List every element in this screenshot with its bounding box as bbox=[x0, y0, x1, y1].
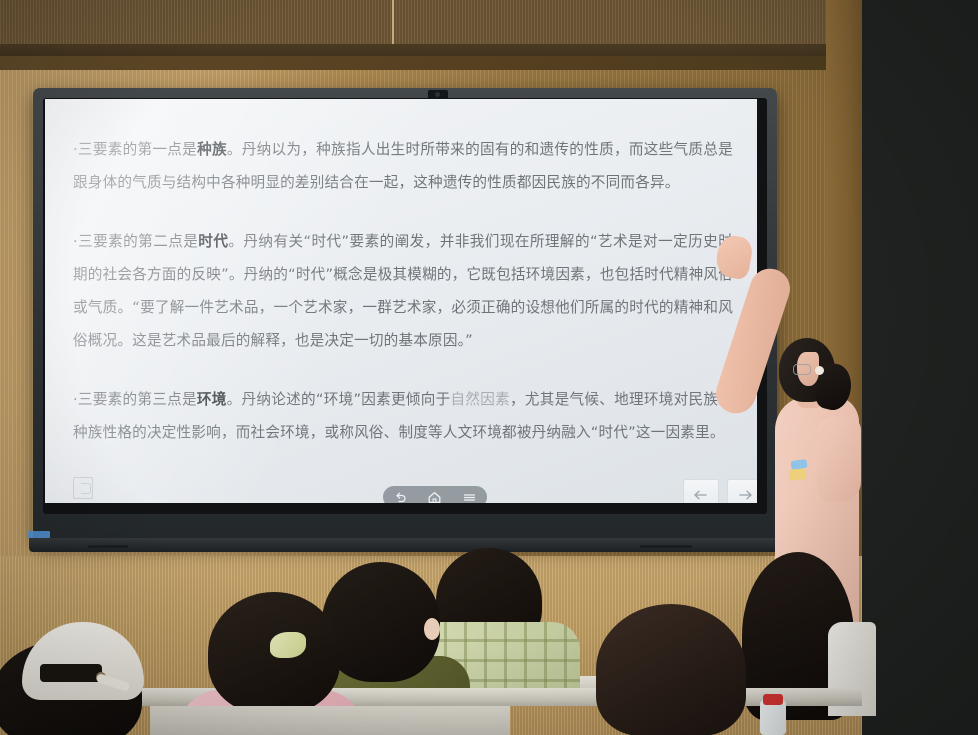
classroom-window bbox=[862, 0, 978, 735]
slide-text-run: ·三要素的第二点是 bbox=[73, 233, 198, 250]
wall-panel-seam bbox=[392, 0, 394, 46]
presenter-sleeve bbox=[817, 416, 861, 502]
smart-board-led-indicator bbox=[28, 531, 50, 538]
hair-clip-icon bbox=[270, 632, 306, 658]
shirt-graphic-yellow bbox=[788, 468, 806, 481]
water-bottle bbox=[760, 700, 786, 735]
slide-text-run: 。丹纳有关“时代”要素的阐发，并非我们现在所理解的“艺术是对一定历史时期的社会各… bbox=[73, 233, 733, 349]
slide-document: ·三要素的第一点是种族。丹纳以为，种族指人出生时所带来的固有的和遗传的性质，而这… bbox=[73, 133, 733, 449]
slide-text-run: ·三要素的第三点是 bbox=[73, 391, 197, 408]
smart-board-screen[interactable]: ·三要素的第一点是种族。丹纳以为，种族指人出生时所带来的固有的和遗传的性质，而这… bbox=[45, 99, 757, 503]
slide-text-run: 环境 bbox=[197, 391, 227, 408]
home-icon[interactable] bbox=[427, 490, 442, 504]
student-brown-hair bbox=[596, 604, 746, 735]
slide-paragraph-2: ·三要素的第二点是时代。丹纳有关“时代”要素的阐发，并非我们现在所理解的“艺术是… bbox=[73, 225, 733, 357]
classroom-scene: ·三要素的第一点是种族。丹纳以为，种族指人出生时所带来的固有的和遗传的性质，而这… bbox=[0, 0, 978, 735]
arrow-left-icon bbox=[692, 488, 710, 502]
wall-upper-panel bbox=[0, 0, 860, 46]
hair-tie bbox=[815, 366, 824, 375]
prev-page-button[interactable] bbox=[683, 479, 719, 503]
slide-paragraph-1: ·三要素的第一点是种族。丹纳以为，种族指人出生时所带来的固有的和遗传的性质，而这… bbox=[73, 133, 733, 199]
water-bottle-cap bbox=[763, 694, 783, 705]
wall-grain-texture bbox=[0, 0, 860, 46]
slide-text-run: ·三要素的第一点是 bbox=[73, 141, 197, 158]
student-olive-ear bbox=[424, 618, 440, 640]
slide-text-run: 。丹纳论述的“环境”因素更倾向于 bbox=[227, 391, 451, 408]
arrow-right-icon bbox=[736, 488, 754, 502]
slide-text-run: 种族 bbox=[197, 141, 227, 158]
screen-toolbar[interactable] bbox=[383, 486, 487, 503]
glasses-icon bbox=[793, 364, 811, 375]
presenter-shirt-graphic bbox=[789, 460, 811, 482]
smart-board-ir-strip-left bbox=[88, 545, 128, 548]
camera-lens-icon bbox=[435, 92, 440, 97]
page-exit-icon[interactable] bbox=[73, 477, 93, 499]
menu-icon[interactable] bbox=[462, 490, 477, 504]
slide-paragraph-3: ·三要素的第三点是环境。丹纳论述的“环境”因素更倾向于自然因素，尤其是气候、地理… bbox=[73, 383, 733, 449]
smart-board-ir-strip-right bbox=[640, 545, 692, 548]
cap-strap bbox=[40, 664, 102, 682]
slide-text-run: 时代 bbox=[198, 233, 228, 250]
slide-text-run: 自然因素 bbox=[451, 391, 510, 408]
next-page-button[interactable] bbox=[727, 479, 757, 503]
desk-foreground bbox=[150, 706, 510, 735]
back-arrow-icon[interactable] bbox=[393, 490, 408, 504]
